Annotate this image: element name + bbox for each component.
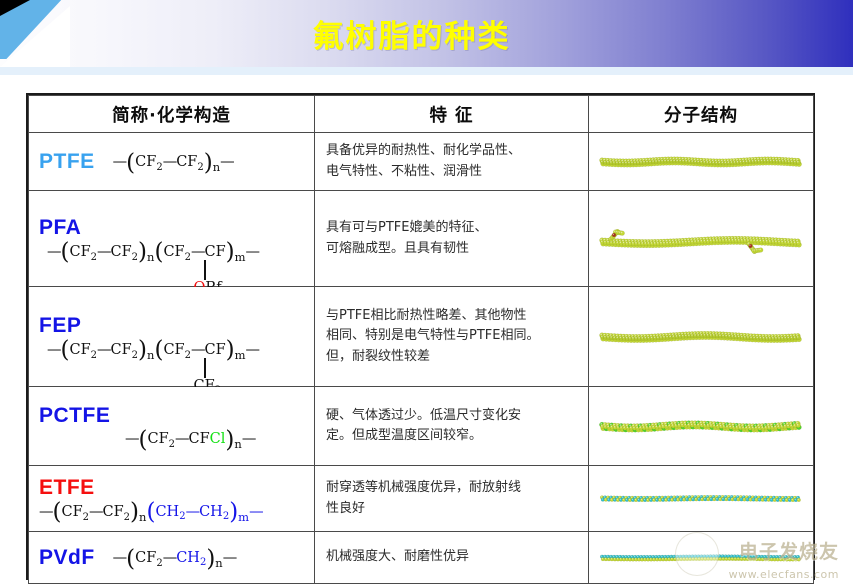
cell-feature-etfe: 耐穿透等机械强度优异，耐放射线 性良好 [315, 466, 589, 532]
feature-line: 但，耐裂纹性较差 [326, 347, 580, 367]
cell-feature-fep: 与PTFE相比耐热性略差、其他物性 相同、特别是电气特性与PTFE相同。 但，耐… [315, 287, 589, 387]
table-header-row: 简称·化学构造 特 征 分子结构 [29, 96, 814, 133]
abbr-etfe: ETFE [39, 476, 308, 500]
cell-structure-ptfe [589, 133, 814, 191]
pendant-group-orf: CFORf [204, 244, 225, 260]
molecule-svg [599, 491, 804, 506]
cell-feature-pfa: 具有可与PTFE媲美的特征、 可熔融成型。且具有韧性 [315, 191, 589, 287]
page-title: 氟树脂的种类 [0, 0, 853, 67]
cell-name-fep: FEP —(CF2—CF2)n(CF2—CFCF3)m— [29, 287, 315, 387]
table-row: ETFE —(CF2—CF2)n(CH2—CH2)m— 耐穿透等机械强度优异，耐… [29, 466, 814, 532]
column-header-structure: 分子结构 [589, 96, 814, 133]
cell-structure-pvdf [589, 532, 814, 584]
column-header-feature: 特 征 [315, 96, 589, 133]
table-row: FEP —(CF2—CF2)n(CF2—CFCF3)m— 与PTFE相比耐热性略… [29, 287, 814, 387]
abbr-pctfe: PCTFE [39, 404, 308, 428]
abbr-ptfe: PTFE [39, 150, 95, 174]
abbr-pfa: PFA [39, 216, 308, 240]
feature-line: 与PTFE相比耐热性略差、其他物性 [326, 306, 580, 326]
feature-line: 可熔融成型。且具有韧性 [326, 239, 580, 259]
feature-line: 硬、气体透过少。低温尺寸变化安 [326, 406, 580, 426]
slide-root: 氟树脂的种类 简称·化学构造 特 征 分子结构 PTFE [0, 0, 853, 588]
cell-structure-pfa [589, 191, 814, 287]
feature-line: 性良好 [326, 499, 580, 519]
slide-header-banner: 氟树脂的种类 [0, 0, 853, 67]
molecule-image-pfa [589, 191, 813, 286]
abbr-fep: FEP [39, 314, 308, 338]
molecule-svg [599, 415, 804, 438]
cell-name-pctfe: PCTFE —(CF2—CFCl)n— [29, 387, 315, 466]
molecule-svg [599, 325, 804, 349]
feature-line: 机械强度大、耐磨性优异 [326, 547, 580, 567]
cell-name-pvdf: PVdF —(CF2—CH2)n— [29, 532, 315, 584]
molecule-svg [599, 151, 804, 173]
formula-pfa: —(CF2—CF2)n(CF2—CFORf)m— [47, 242, 259, 259]
cell-name-pfa: PFA —(CF2—CF2)n(CF2—CFORf)m— [29, 191, 315, 287]
feature-line: 定。但成型温度区间较窄。 [326, 426, 580, 446]
formula-fep: —(CF2—CF2)n(CF2—CFCF3)m— [47, 340, 259, 357]
column-header-name: 简称·化学构造 [29, 96, 315, 133]
cell-structure-pctfe [589, 387, 814, 466]
molecule-image-pctfe [589, 387, 813, 465]
formula-pvdf: —(CF2—CH2)n— [113, 549, 237, 566]
formula-etfe: —(CF2—CF2)n(CH2—CH2)m— [39, 502, 263, 519]
cell-feature-pvdf: 机械强度大、耐磨性优异 [315, 532, 589, 584]
feature-line: 电气特性、不粘性、润滑性 [326, 162, 580, 182]
feature-line: 相同、特别是电气特性与PTFE相同。 [326, 326, 580, 346]
cell-feature-ptfe: 具备优异的耐热性、耐化学品性、 电气特性、不粘性、润滑性 [315, 133, 589, 191]
banner-underline [0, 67, 853, 75]
feature-line: 具有可与PTFE媲美的特征、 [326, 218, 580, 238]
formula-ptfe: —(CF2—CF2)n— [113, 153, 234, 170]
table-row: PCTFE —(CF2—CFCl)n— 硬、气体透过少。低温尺寸变化安 定。但成… [29, 387, 814, 466]
table-row: PTFE —(CF2—CF2)n— 具备优异的耐热性、耐化学品性、 电气特性、不… [29, 133, 814, 191]
molecule-svg [599, 551, 804, 565]
table-row: PVdF —(CF2—CH2)n— 机械强度大、耐磨性优异 [29, 532, 814, 584]
cell-name-ptfe: PTFE —(CF2—CF2)n— [29, 133, 315, 191]
cell-name-etfe: ETFE —(CF2—CF2)n(CH2—CH2)m— [29, 466, 315, 532]
table-row: PFA —(CF2—CF2)n(CF2—CFORf)m— 具有可与PTFE媲美的… [29, 191, 814, 287]
molecule-image-pvdf [589, 532, 813, 583]
cell-structure-etfe [589, 466, 814, 532]
feature-line: 具备优异的耐热性、耐化学品性、 [326, 141, 580, 161]
molecule-image-fep [589, 287, 813, 386]
pendant-group-cf3: CFCF3 [204, 342, 225, 358]
formula-pctfe: —(CF2—CFCl)n— [125, 430, 255, 447]
molecule-image-ptfe [589, 133, 813, 190]
molecule-image-etfe [589, 466, 813, 531]
cell-structure-fep [589, 287, 814, 387]
fluoropolymer-table: 简称·化学构造 特 征 分子结构 PTFE —(CF2—CF2)n— [26, 93, 815, 580]
cell-feature-pctfe: 硬、气体透过少。低温尺寸变化安 定。但成型温度区间较窄。 [315, 387, 589, 466]
molecule-svg [599, 221, 804, 256]
feature-line: 耐穿透等机械强度优异，耐放射线 [326, 478, 580, 498]
abbr-pvdf: PVdF [39, 546, 95, 570]
